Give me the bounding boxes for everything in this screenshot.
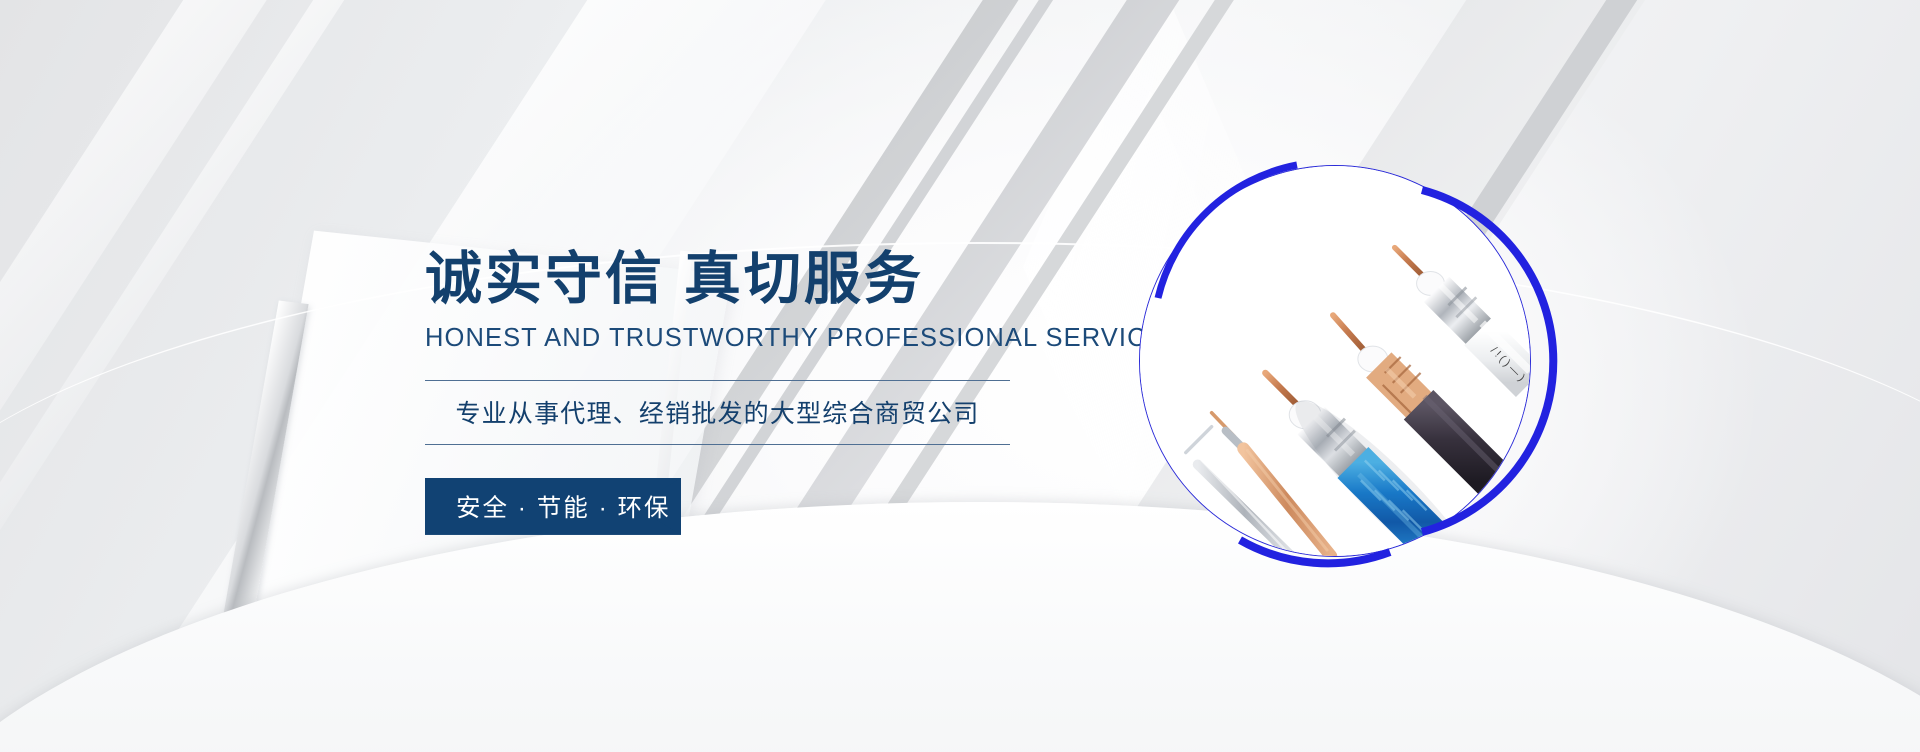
ribbon-label: 安全 · 节能 · 环保 (425, 489, 671, 524)
diagonal-band-mid (0, 0, 9, 752)
ring-arc-bottom (1240, 540, 1390, 563)
banner-subtitle-english: HONEST AND TRUSTWORTHY PROFESSIONAL SERV… (425, 324, 1125, 353)
banner-headline: 诚实守信 真切服务 (425, 248, 1125, 312)
broken-circle-ring-icon (1122, 148, 1548, 574)
ring-arc-top-left (1158, 165, 1297, 298)
hero-banner: 诚实守信 真切服务 HONEST AND TRUSTWORTHY PROFESS… (0, 0, 1920, 752)
curved-floor-shape (0, 502, 1920, 752)
tagline-rule-box: 专业从事代理、经销批发的大型综合商贸公司 (425, 380, 1010, 445)
product-medallion: / ! ( ) — ) (1139, 165, 1531, 557)
banner-tagline-chinese: 专业从事代理、经销批发的大型综合商贸公司 (425, 394, 1010, 430)
banner-content: 诚实守信 真切服务 HONEST AND TRUSTWORTHY PROFESS… (425, 248, 1125, 535)
panel-leg-shape (221, 300, 308, 629)
diagonal-band-light (0, 0, 70, 752)
diagonal-band-soft-1 (0, 0, 489, 752)
ring-arc-right (1422, 190, 1553, 532)
feature-ribbon-badge: 安全 · 节能 · 环保 (425, 478, 681, 535)
